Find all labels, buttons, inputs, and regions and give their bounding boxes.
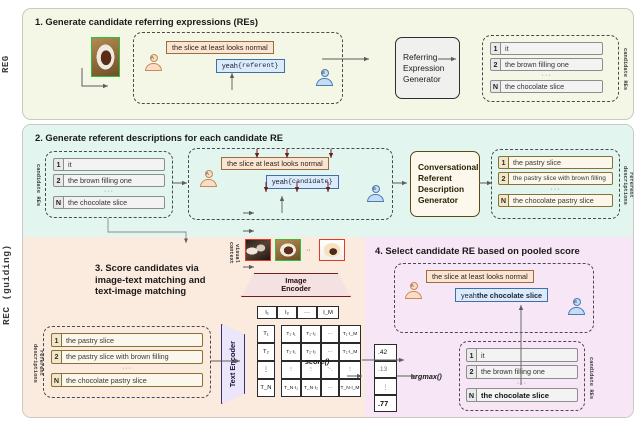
source-image-thumbnail (91, 37, 120, 77)
thumbnail-3 (319, 239, 345, 261)
matrix-cell-3-0: T_N·I₁ (281, 379, 301, 397)
bubble-a-4: the slice at least looks normal (426, 270, 534, 283)
list-item-number: 1 (498, 156, 509, 169)
speaker-b-avatar-4: B (568, 298, 585, 315)
speaker-b-avatar-2: B (367, 185, 384, 202)
referent-descriptions-list-2: 1the pastry slice 2the pastry slice with… (498, 156, 613, 210)
list-item-text: the brown filling one (501, 58, 603, 71)
referent-descriptions-side-label-3: referent descriptions (32, 333, 44, 393)
matrix-cell-0-0: T₁·I₁ (281, 325, 301, 343)
list-ellipsis: ··· (498, 187, 613, 194)
list-item-text: the pastry slice (62, 333, 203, 347)
list-ellipsis: ··· (490, 73, 603, 80)
thumbnail-1 (245, 239, 271, 261)
bubble-b-1-slot: {referent} (238, 62, 279, 70)
list-item-number: 2 (490, 58, 501, 71)
list-item-number: 1 (53, 158, 64, 171)
list-item-text: the pastry slice (509, 156, 613, 169)
section-3-title-line-2: text-image matching (95, 285, 255, 297)
candidate-res-list-2: 1it 2the brown filling one ··· Nthe choc… (53, 158, 165, 212)
image-encoder-line-1: Encoder (281, 285, 311, 294)
candidate-res-side-label-2: candidate REs (35, 156, 41, 214)
list-item-number: 1 (51, 333, 62, 347)
list-item: Nthe chocolate slice (53, 196, 165, 209)
candidate-res-side-label-4: candidate REs (588, 348, 594, 408)
bubble-b-4: yeah the chocolate slice (455, 288, 548, 302)
matrix-cell-1-3: T₂·I_M (339, 343, 361, 361)
diagram-root: REG REC (guiding) 1. Generate candidate … (0, 0, 640, 426)
section-4-title: 4. Select candidate RE based on pooled s… (375, 245, 580, 257)
list-item-text-selected: the chocolate slice (477, 388, 578, 402)
image-feature-cell-m: I_M (317, 306, 339, 319)
list-item-number: 1 (490, 42, 501, 55)
conversational-referent-description-generator-box: Conversational Referent Description Gene… (410, 151, 480, 217)
section-3-title-line-1: image-text matching and (95, 274, 255, 286)
matrix-cell-3-3: T_N·I_M (339, 379, 361, 397)
list-item-number: N (490, 80, 501, 93)
text-encoder-box: Text Encoder (221, 324, 245, 404)
list-item-text: the chocolate slice (501, 80, 603, 93)
matrix-cell-2-3: ⋮ (339, 361, 361, 379)
matrix-cell-1-0: T₂·I₁ (281, 343, 301, 361)
bubble-b-1-prefix: yeah (222, 61, 238, 70)
bubble-a-1: the slice at least looks normal (166, 41, 274, 54)
pooled-score-cell-ellipsis: ⋮ (374, 378, 397, 395)
list-item: 2the brown filling one (466, 365, 578, 379)
reg-box-line-2: Generator (403, 74, 444, 85)
list-item: 2the brown filling one (490, 58, 603, 71)
panel-section-4: 4. Select candidate RE based on pooled s… (365, 237, 633, 418)
text-feature-cell-1: T₁ (257, 325, 275, 343)
text-feature-cell-n: T_N (257, 379, 275, 397)
bubble-b-1: yeah {referent} (216, 59, 285, 73)
speaker-a-avatar-2: A (200, 170, 217, 187)
pooled-score-cell-n: .77 (374, 395, 397, 412)
candidate-res-side-label-1: candidate REs (622, 40, 628, 98)
crdg-box-line-0: Conversational (418, 162, 479, 173)
visual-context-label: visual context (228, 239, 240, 267)
bubble-a-2-text: the slice at least looks normal (227, 159, 323, 168)
panel-section-2: 2. Generate referent descriptions for ea… (23, 125, 633, 237)
panel-section-3: 3. Score candidates via image-text match… (23, 237, 365, 418)
list-item-number: 2 (466, 365, 477, 379)
list-item: 1it (490, 42, 603, 55)
list-item-text: it (477, 348, 578, 362)
pooled-score-cell-2: .13 (374, 361, 397, 378)
list-item-number: N (53, 196, 64, 209)
speaker-a-tag-1: A (151, 55, 154, 60)
image-encoder-box: Image Encoder (241, 273, 351, 297)
speaker-b-tag-2: B (373, 186, 376, 191)
matrix-cell-3-1: T_N·I₂ (301, 379, 321, 397)
list-item: 1the pastry slice (51, 333, 203, 347)
list-item: Nthe chocolate pastry slice (51, 373, 203, 387)
list-item-text: the chocolate slice (64, 196, 165, 209)
list-item-text: the brown filling one (477, 365, 578, 379)
list-item: 2the pastry slice with brown filling (498, 172, 613, 185)
list-item-text: it (501, 42, 603, 55)
list-item-number: N (51, 373, 62, 387)
list-item-number: 2 (51, 350, 62, 364)
speaker-a-avatar-1: A (145, 54, 162, 71)
speaker-a-tag-4: A (411, 283, 414, 288)
list-item: Nthe chocolate slice (466, 388, 578, 402)
image-feature-cell-ellipsis: ··· (297, 306, 317, 319)
rail-label-reg: REG (1, 22, 11, 106)
bubble-a-2: the slice at least looks normal (221, 157, 329, 170)
image-feature-cell-2: I₂ (277, 306, 297, 319)
score-function-label: score() (305, 357, 329, 366)
list-item-text: the brown filling one (64, 174, 165, 187)
list-item-text: the chocolate pastry slice (509, 194, 613, 207)
thumbnail-2-selected (275, 239, 301, 261)
list-item: 1it (53, 158, 165, 171)
crdg-box-line-1: Referent (418, 173, 479, 184)
argmax-label: argmax() (411, 372, 442, 381)
list-item: Nthe chocolate slice (490, 80, 603, 93)
matrix-cell-0-2: ··· (321, 325, 339, 343)
bubble-b-2-slot: {candidate} (288, 178, 333, 186)
speaker-b-tag-1: B (322, 70, 325, 75)
image-feature-cell-1: I₁ (257, 306, 277, 319)
candidate-res-list-1: 1it 2the brown filling one ··· Nthe choc… (490, 42, 603, 96)
list-item: 1it (466, 348, 578, 362)
section-1-title: 1. Generate candidate referring expressi… (35, 16, 258, 28)
bubble-b-4-prefix: yeah (461, 291, 477, 300)
list-item: 2the brown filling one (53, 174, 165, 187)
matrix-cell-2-0: ⋮ (281, 361, 301, 379)
matrix-cell-0-3: T₁·I_M (339, 325, 361, 343)
list-item-number: 2 (53, 174, 64, 187)
bubble-b-4-selected: the chocolate slice (477, 291, 542, 300)
list-item-text: the pastry slice with brown filling (509, 172, 613, 185)
panel-section-1: 1. Generate candidate referring expressi… (22, 8, 634, 120)
bubble-a-4-text: the slice at least looks normal (432, 272, 528, 281)
list-ellipsis: ··· (51, 366, 203, 373)
speaker-b-avatar-1: B (316, 69, 333, 86)
list-item: 2the pastry slice with brown filling (51, 350, 203, 364)
list-item-number: N (498, 194, 509, 207)
matrix-cell-0-1: T₁·I₂ (301, 325, 321, 343)
text-encoder-label: Text Encoder (229, 341, 238, 387)
list-ellipsis: ··· (466, 381, 578, 388)
matrix-cell-3-2: ··· (321, 379, 339, 397)
text-feature-cell-2: T₂ (257, 343, 275, 361)
reg-box-line-1: Expression (403, 63, 444, 74)
rail-label-rec: REC (guiding) (1, 200, 12, 370)
list-item-number: 1 (466, 348, 477, 362)
speaker-a-tag-2: A (206, 171, 209, 176)
candidate-res-list-4: 1it 2the brown filling one ··· Nthe choc… (466, 348, 578, 405)
list-item-text: it (64, 158, 165, 171)
bubble-b-2-prefix: yeah (272, 177, 288, 186)
referent-descriptions-side-label-2: referent descriptions (622, 153, 634, 217)
referring-expression-generator-box: Referring Expression Generator (395, 37, 460, 99)
crdg-box-line-2: Description (418, 184, 479, 195)
thumbnail-ellipsis: ·· (306, 247, 311, 254)
section-2-title: 2. Generate referent descriptions for ea… (35, 132, 283, 144)
list-ellipsis: ··· (53, 189, 165, 196)
list-item-text: the pastry slice with brown filling (62, 350, 203, 364)
list-item: Nthe chocolate pastry slice (498, 194, 613, 207)
list-item-number: 2 (498, 172, 509, 185)
speaker-a-avatar-4: A (405, 282, 422, 299)
bubble-a-1-text: the slice at least looks normal (172, 43, 268, 52)
bubble-b-2: yeah {candidate} (266, 175, 339, 189)
reg-box-line-0: Referring (403, 52, 444, 63)
text-feature-cell-ellipsis: ⋮ (257, 361, 275, 379)
referent-descriptions-list-3: 1the pastry slice 2the pastry slice with… (51, 333, 203, 390)
list-item-number: N (466, 388, 477, 402)
list-item-text: the chocolate pastry slice (62, 373, 203, 387)
panel-rec: 2. Generate referent descriptions for ea… (22, 124, 634, 418)
pooled-score-cell-1: .42 (374, 344, 397, 361)
crdg-box-line-3: Generator (418, 195, 479, 206)
section-3-title: 3. Score candidates via image-text match… (95, 262, 255, 297)
speaker-b-tag-4: B (574, 299, 577, 304)
list-item: 1the pastry slice (498, 156, 613, 169)
